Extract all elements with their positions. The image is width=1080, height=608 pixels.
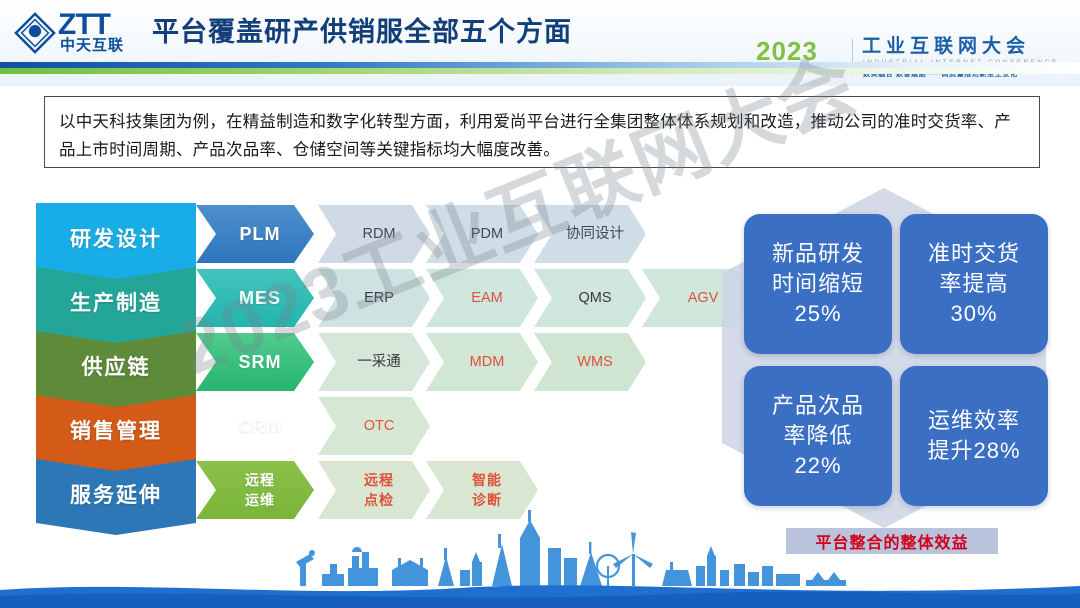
benefit-card-4-line1: 运维效率 [928, 406, 1020, 436]
process-row-3-lead-chevron[interactable]: SRM [196, 333, 314, 391]
benefit-card-3-line2: 率降低 [783, 421, 852, 451]
slide-header: ZTT 中天互联 平台覆盖研产供销服全部五个方面 2023 中国·苏州 9月14… [0, 0, 1080, 86]
benefit-card-1-line1: 新品研发 [772, 239, 864, 269]
process-row-1-lead-label: PLM [230, 224, 281, 244]
logo-wordmark-cn: 中天互联 [60, 38, 124, 53]
process-row-2-lead-chevron[interactable]: MES [196, 269, 314, 327]
callout-textbox: 以中天科技集团为例，在精益制造和数字化转型方面，利用爱尚平台进行全集团整体体系规… [44, 96, 1040, 168]
process-row-2-chevron-2-label: EAM [461, 288, 502, 308]
process-row-2: MESERPEAMQMSAGV [196, 269, 716, 327]
benefit-card-4-line2: 提升28% [927, 436, 1020, 466]
process-row-1-chevron-1[interactable]: RDM [318, 205, 430, 263]
process-row-2-chevron-3-label: QMS [568, 288, 611, 308]
header-rule-green [0, 68, 1080, 74]
benefit-card-2-line1: 准时交货 [928, 239, 1020, 269]
process-row-2-chevron-2[interactable]: EAM [426, 269, 538, 327]
process-row-5-chevron-1[interactable]: 远程点检 [318, 461, 430, 519]
process-row-2-lead-label: MES [229, 288, 281, 308]
benefit-card-1-value: 25% [794, 299, 841, 329]
process-row-1: PLMRDMPDM协同设计 [196, 205, 716, 263]
process-row-1-chevron-3-label: 协同设计 [556, 224, 624, 244]
process-row-1-chevron-3[interactable]: 协同设计 [534, 205, 646, 263]
process-row-3-chevron-3-label: WMS [567, 352, 612, 372]
phase-band-1-label: 研发设计 [70, 223, 162, 253]
process-row-2-chevron-1-label: ERP [354, 288, 394, 308]
phase-band-4-label: 销售管理 [70, 415, 162, 445]
process-row-4-chevron-1[interactable]: OTC [318, 397, 430, 455]
process-row-1-chevron-2-label: PDM [461, 224, 503, 244]
process-row-1-lead-chevron[interactable]: PLM [196, 205, 314, 263]
benefit-summary-label: 平台整合的整体效益 [786, 528, 998, 554]
process-row-5-chevron-1-label: 远程点检 [354, 470, 394, 510]
process-row-2-chevron-3[interactable]: QMS [534, 269, 646, 327]
process-row-4-lead-label: CRM [228, 416, 282, 436]
conference-name-cn: 工业互联网大会 [862, 37, 1030, 56]
benefit-card-2[interactable]: 准时交货 率提高 30% [900, 214, 1048, 354]
slide-root: ZTT 中天互联 平台覆盖研产供销服全部五个方面 2023 中国·苏州 9月14… [0, 0, 1080, 608]
benefits-panel: 新品研发 时间缩短 25% 准时交货 率提高 30% 产品次品 率降低 22% … [700, 188, 1066, 548]
process-row-3-chevron-2[interactable]: MDM [426, 333, 538, 391]
process-row-4-chevron-1-label: OTC [354, 416, 395, 436]
process-row-3-chevron-1-label: 一采通 [347, 352, 401, 372]
phase-band-3-label: 供应链 [82, 351, 151, 381]
benefit-card-4[interactable]: 运维效率 提升28% [900, 366, 1048, 506]
process-row-3-chevron-1[interactable]: 一采通 [318, 333, 430, 391]
process-row-3: SRM一采通MDMWMS [196, 333, 716, 391]
process-row-1-chevron-1-label: RDM [352, 224, 395, 244]
company-logo: ZTT 中天互联 [14, 8, 144, 58]
process-row-4-lead-chevron[interactable]: CRM [196, 397, 314, 455]
benefit-card-3-value: 22% [794, 451, 841, 481]
ztt-diamond-logo-icon [14, 12, 56, 54]
phase-band-5-label: 服务延伸 [70, 479, 162, 509]
page-title: 平台覆盖研产供销服全部五个方面 [152, 16, 572, 48]
process-row-4: CRMOTC [196, 397, 716, 455]
process-row-5-lead-chevron[interactable]: 远程运维 [196, 461, 314, 519]
process-row-5-lead-label: 远程运维 [235, 470, 275, 510]
process-row-5: 远程运维远程点检智能诊断 [196, 461, 716, 519]
callout-text: 以中天科技集团为例，在精益制造和数字化转型方面，利用爱尚平台进行全集团整体体系规… [59, 108, 1025, 164]
conference-year: 2023 [756, 38, 818, 64]
benefit-card-3-line1: 产品次品 [772, 391, 864, 421]
benefit-card-1[interactable]: 新品研发 时间缩短 25% [744, 214, 892, 354]
phase-band-2-label: 生产制造 [70, 287, 162, 317]
benefit-card-3[interactable]: 产品次品 率降低 22% [744, 366, 892, 506]
phase-band-1[interactable]: 研发设计 [36, 203, 196, 279]
process-rows: PLMRDMPDM协同设计MESERPEAMQMSAGVSRM一采通MDMWMS… [196, 205, 716, 525]
process-row-3-chevron-2-label: MDM [460, 352, 505, 372]
conference-logo: 2023 中国·苏州 9月14日-16日 工业互联网大会 INDUSTRIAL … [746, 38, 1076, 82]
process-row-2-chevron-1[interactable]: ERP [318, 269, 430, 327]
process-row-3-lead-label: SRM [229, 352, 282, 372]
logo-wordmark: ZTT [58, 10, 110, 40]
benefit-card-2-line2: 率提高 [939, 269, 1008, 299]
phase-column: 研发设计生产制造供应链销售管理服务延伸 [36, 203, 196, 523]
benefit-card-1-line2: 时间缩短 [772, 269, 864, 299]
benefit-card-2-value: 30% [950, 299, 997, 329]
process-row-1-chevron-2[interactable]: PDM [426, 205, 538, 263]
process-row-3-chevron-3[interactable]: WMS [534, 333, 646, 391]
process-row-5-chevron-2[interactable]: 智能诊断 [426, 461, 538, 519]
process-row-5-chevron-2-label: 智能诊断 [462, 470, 502, 510]
